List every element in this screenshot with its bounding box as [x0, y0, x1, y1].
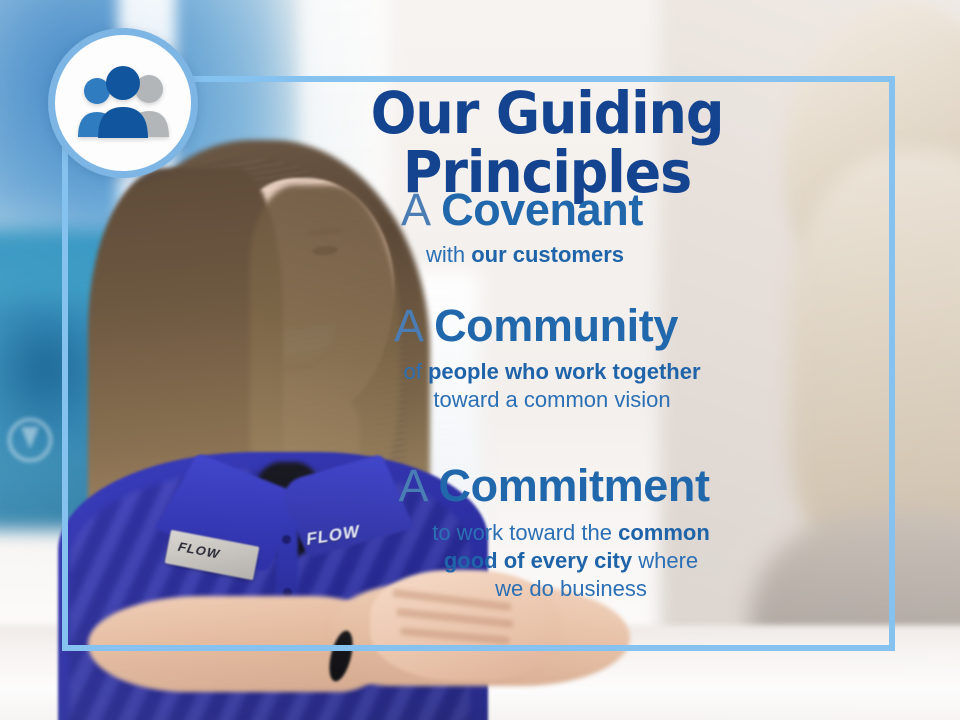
principle-article: A [394, 300, 422, 351]
principle-commitment: A Commitment to work toward the commongo… [210, 462, 870, 603]
people-group-icon [71, 65, 175, 141]
subtext-line: good of every city where [272, 547, 870, 575]
subtext-run: to work toward the [432, 520, 618, 545]
subtext-emphasis: common [618, 520, 710, 545]
people-badge [48, 28, 198, 178]
subtext-emphasis: our customers [471, 242, 624, 267]
principle-heading: A Covenant [210, 186, 870, 235]
principle-word: Commitment [439, 460, 710, 511]
subtext-emphasis: good of every city [444, 548, 632, 573]
subtext-emphasis: people who work together [428, 359, 701, 384]
principle-community: A Community of people who work togethert… [210, 302, 870, 414]
principle-heading: A Community [210, 302, 870, 351]
subtext-run: toward a common vision [433, 387, 670, 412]
principle-covenant: A Covenant with our customers [210, 186, 870, 269]
principle-subtext: to work toward the commongood of every c… [210, 519, 870, 603]
principle-article: A [401, 184, 429, 235]
principle-subtext: with our customers [210, 241, 870, 269]
principle-word: Covenant [441, 184, 643, 235]
principle-word: Community [434, 300, 678, 351]
subtext-line: to work toward the common [272, 519, 870, 547]
subtext-run: where [632, 548, 698, 573]
subtext-run: of [403, 359, 427, 384]
principle-subtext: of people who work togethertoward a comm… [210, 358, 870, 414]
subtext-line: with our customers [210, 241, 840, 269]
subtext-line: of people who work together [234, 358, 870, 386]
subtext-line: we do business [272, 575, 870, 603]
banner-graphic: FLOW FLOW Our Guiding Principles [0, 0, 960, 720]
principle-heading: A Commitment [210, 462, 870, 511]
principle-article: A [398, 460, 426, 511]
subtext-run: with [426, 242, 471, 267]
subtext-line: toward a common vision [234, 386, 870, 414]
subtext-run: we do business [495, 576, 647, 601]
